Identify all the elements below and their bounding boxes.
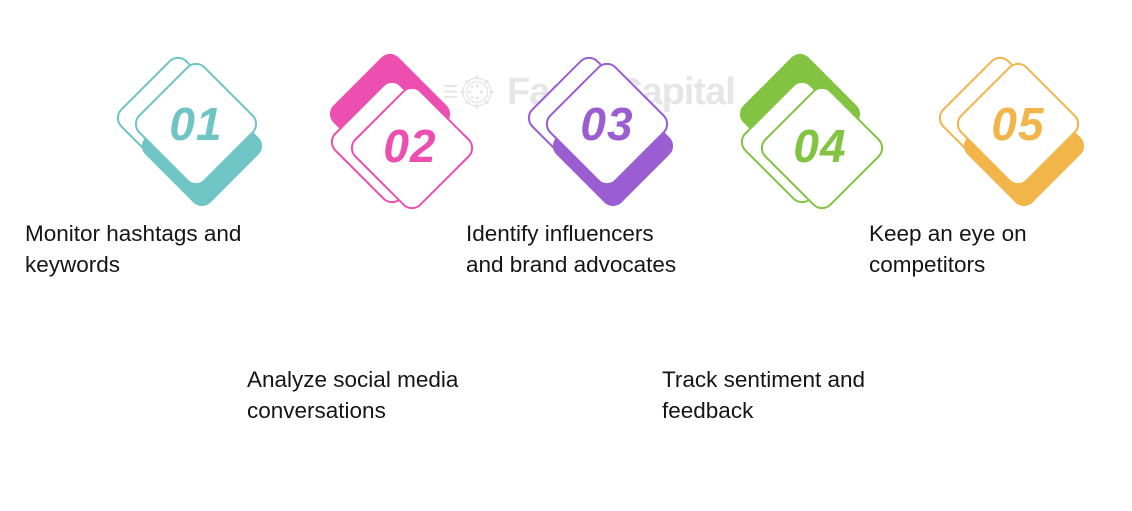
diamond-stack: 05 xyxy=(932,52,1092,212)
step-badge-01: 01 xyxy=(110,52,270,212)
step-badge-04: 04 xyxy=(730,52,890,212)
step-badge-03: 03 xyxy=(521,52,681,212)
step-caption-05: Keep an eye on competitors xyxy=(869,218,1027,280)
step-number: 02 xyxy=(330,66,490,226)
step-badge-05: 05 xyxy=(932,52,1092,212)
step-caption-02: Analyze social media conversations xyxy=(247,364,458,426)
step-number: 04 xyxy=(740,66,900,226)
diamond-stack: 01 xyxy=(110,52,270,212)
step-number: 05 xyxy=(938,44,1098,204)
diamond-stack: 03 xyxy=(521,52,681,212)
step-number: 01 xyxy=(116,44,276,204)
infographic-canvas: FasterCapital 01Monitor hashtags and key… xyxy=(0,0,1132,511)
step-badge-02: 02 xyxy=(320,52,480,212)
step-caption-04: Track sentiment and feedback xyxy=(662,364,865,426)
diamond-stack: 02 xyxy=(320,52,480,212)
step-caption-01: Monitor hashtags and keywords xyxy=(25,218,241,280)
diamond-stack: 04 xyxy=(730,52,890,212)
step-number: 03 xyxy=(527,44,687,204)
step-caption-03: Identify influencers and brand advocates xyxy=(466,218,676,280)
